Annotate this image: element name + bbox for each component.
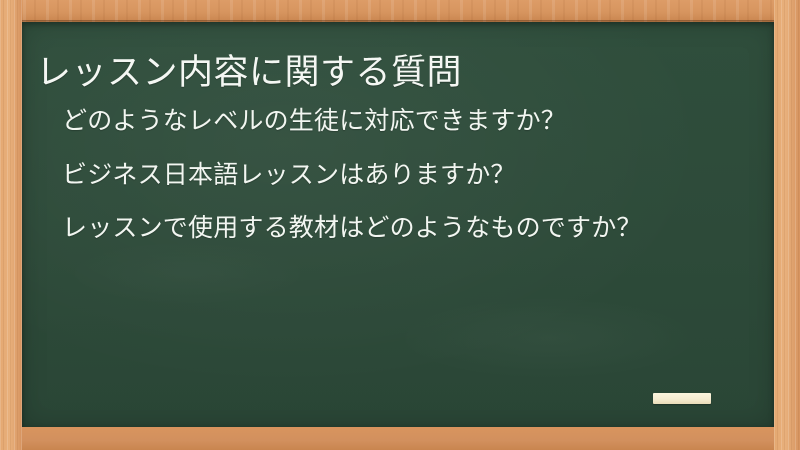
frame-stile-right xyxy=(774,0,800,450)
chalkboard-surface: レッスン内容に関する質問 どのようなレベルの生徒に対応できますか？ ビジネス日本… xyxy=(22,22,774,427)
question-list: どのようなレベルの生徒に対応できますか？ ビジネス日本語レッスンはありますか？ … xyxy=(62,104,750,245)
frame-stile-left xyxy=(0,0,22,450)
blackboard-slide: レッスン内容に関する質問 どのようなレベルの生徒に対応できますか？ ビジネス日本… xyxy=(0,0,800,450)
eraser-icon xyxy=(653,393,711,404)
frame-rail-top xyxy=(0,0,800,22)
frame-rail-bottom xyxy=(0,426,800,450)
list-item: ビジネス日本語レッスンはありますか？ xyxy=(62,158,750,192)
page-title: レッスン内容に関する質問 xyxy=(36,53,754,94)
list-item: どのようなレベルの生徒に対応できますか？ xyxy=(62,104,750,138)
list-item: レッスンで使用する教材はどのようなものですか？ xyxy=(62,211,750,245)
